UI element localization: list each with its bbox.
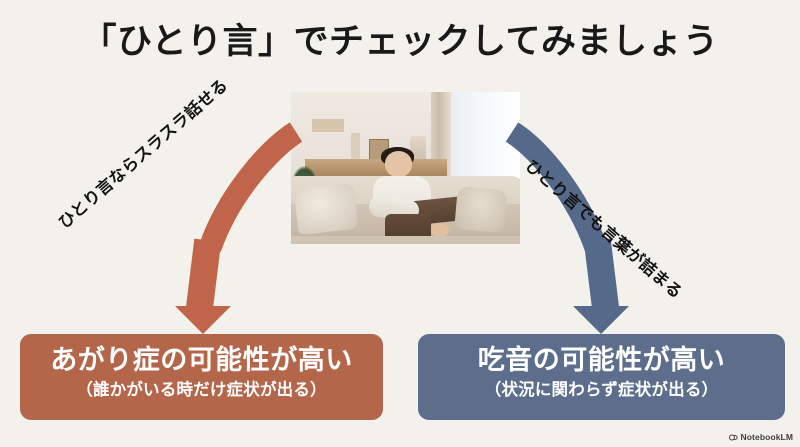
page-title: 「ひとり言」でチェックしてみましょう [0,20,800,64]
watermark: NotebookLM [729,432,793,442]
result-title-left: あがり症の可能性が高い [20,343,383,377]
photo-cushion-right [454,186,508,233]
notebooklm-logo-icon [729,433,738,442]
result-title-right: 吃音の可能性が高い [418,343,785,377]
photo-floor [291,236,520,244]
result-box-kitsuon: 吃音の可能性が高い （状況に関わらず症状が出る） [418,334,785,420]
photo-person-foot [431,223,449,237]
photo-cushion-left [293,183,357,235]
result-subtitle-left: （誰かがいる時だけ症状が出る） [20,377,383,403]
watermark-label: NotebookLM [741,432,793,442]
arrow-label-left: ひとり言ならスラスラ話せる [52,72,232,233]
slide-canvas: 「ひとり言」でチェックしてみましょう [0,0,800,447]
photo-wall-shelf [312,119,344,131]
photo-person-head [385,151,412,177]
result-box-agarisho: あがり症の可能性が高い （誰かがいる時だけ症状が出る） [20,334,383,420]
arrow-left [175,132,296,334]
result-subtitle-right: （状況に関わらず症状が出る） [418,377,785,403]
living-room-photo [291,92,520,244]
arrow-label-right: ひとり言でも言葉が詰まる [521,153,689,303]
photo-vase [351,133,360,162]
